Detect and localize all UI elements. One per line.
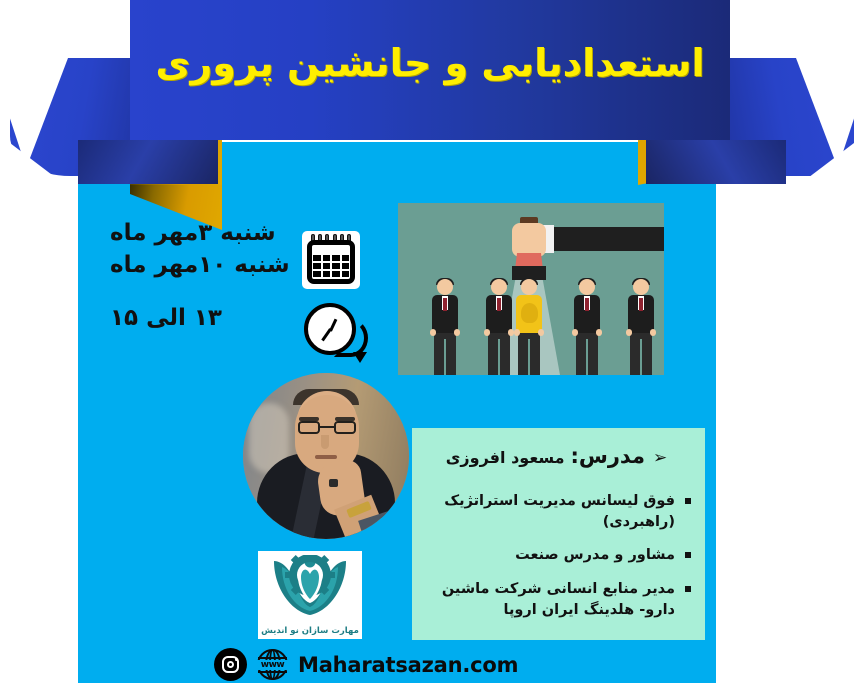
page-title-text: استعدادیابی و جانشین پروری xyxy=(156,40,705,100)
calendar-icon xyxy=(302,231,360,289)
clock-icon xyxy=(304,303,362,357)
ribbon-tail-right-notch xyxy=(796,58,854,168)
ribbon-band xyxy=(130,0,730,140)
date-line-1: شنبه ۳مهر ماه xyxy=(110,218,316,250)
page-title: استعدادیابی و جانشین پروری xyxy=(130,0,730,140)
instructor-label: مدرس: xyxy=(570,444,645,468)
website-link[interactable]: Maharatsazan.com xyxy=(298,653,518,677)
instructor-title-row: ➢ مدرس: مسعود افروزی xyxy=(422,444,691,469)
logo-caption: مهارت سازان نو اندیش xyxy=(258,626,362,636)
person-figure xyxy=(428,279,462,375)
gear-heart-logo-icon xyxy=(268,555,352,617)
instructor-name: مسعود افروزی xyxy=(446,448,565,467)
person-figure xyxy=(570,279,604,375)
footer-contact: www Maharatsazan.com xyxy=(214,648,518,681)
instructor-credentials-list: فوق لیسانس مدیریت استراتژیک (راهبردی) مش… xyxy=(418,491,695,620)
arrow-bullet-icon: ➢ xyxy=(653,448,667,468)
list-item: مدیر منابع انسانی شرکت ماشین دارو- هلدین… xyxy=(418,579,695,620)
www-label: www xyxy=(256,660,289,670)
list-item: فوق لیسانس مدیریت استراتژیک (راهبردی) xyxy=(418,491,695,532)
company-logo: مهارت سازان نو اندیش xyxy=(258,551,362,639)
date-line-2: شنبه ۱۰مهر ماه xyxy=(110,250,316,282)
calendar-grid xyxy=(313,255,349,277)
hand-icon xyxy=(512,223,546,257)
list-item: مشاور و مدرس صنعت xyxy=(418,545,695,566)
person-figure xyxy=(482,279,516,375)
instructor-portrait-photo xyxy=(243,373,409,539)
poster-canvas: استعدادیابی و جانشین پروری شنبه ۳مهر ماه… xyxy=(0,0,864,683)
instagram-icon[interactable] xyxy=(214,648,247,681)
person-figure-highlighted xyxy=(512,279,546,375)
instructor-info-box: ➢ مدرس: مسعود افروزی فوق لیسانس مدیریت ا… xyxy=(412,428,705,640)
person-figure xyxy=(624,279,658,375)
hero-illustration xyxy=(398,203,664,375)
arm-sleeve xyxy=(546,227,664,251)
ribbon-tail-left-notch xyxy=(10,58,68,168)
ribbon-tail-right xyxy=(709,58,854,176)
globe-www-icon[interactable]: www xyxy=(256,648,289,681)
